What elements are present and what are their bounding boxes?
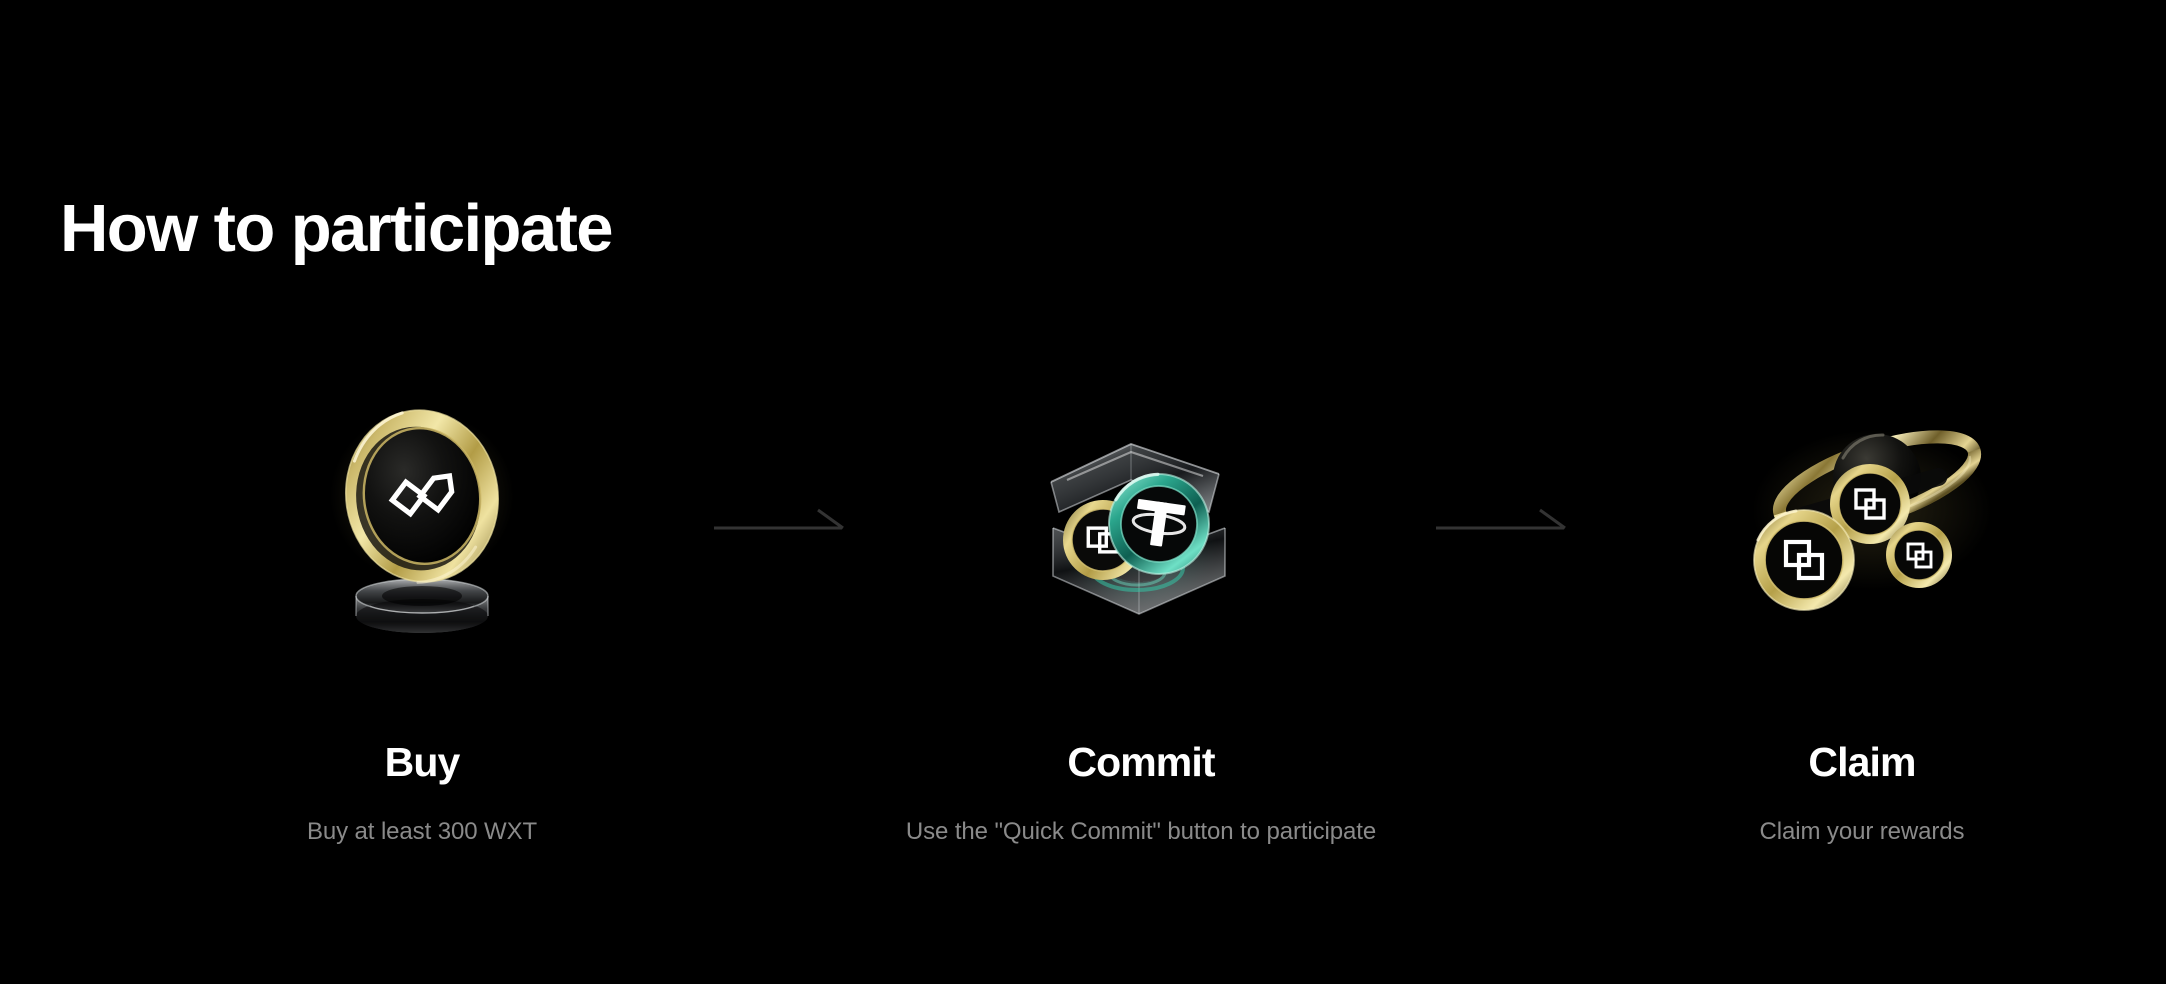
connector-arrow-1 (712, 504, 847, 544)
step-claim-title: Claim (1582, 742, 2142, 783)
arrow-right-icon (1434, 504, 1569, 544)
open-glass-chest-with-coins-icon (1011, 400, 1271, 650)
page-title: How to participate (60, 194, 612, 264)
step-commit: Commit Use the "Quick Commit" button to … (861, 400, 1421, 847)
step-commit-visual (861, 400, 1421, 650)
step-claim: Claim Claim your rewards (1582, 400, 2142, 847)
step-claim-description: Claim your rewards (1582, 818, 2142, 847)
step-buy: Buy Buy at least 300 WXT (142, 400, 702, 847)
connector-arrow-2 (1434, 504, 1569, 544)
golden-ring-with-coins-icon (1722, 400, 2002, 650)
step-buy-description: Buy at least 300 WXT (142, 818, 702, 847)
gold-coin-on-pedestal-icon (292, 400, 552, 650)
step-commit-title: Commit (861, 742, 1421, 783)
step-buy-visual (142, 400, 702, 650)
step-buy-title: Buy (142, 742, 702, 783)
how-to-participate-section: How to participate (0, 0, 2166, 984)
step-commit-description: Use the "Quick Commit" button to partici… (861, 818, 1421, 847)
steps-row: Buy Buy at least 300 WXT (0, 400, 2166, 900)
step-claim-visual (1582, 400, 2142, 650)
arrow-right-icon (712, 504, 847, 544)
